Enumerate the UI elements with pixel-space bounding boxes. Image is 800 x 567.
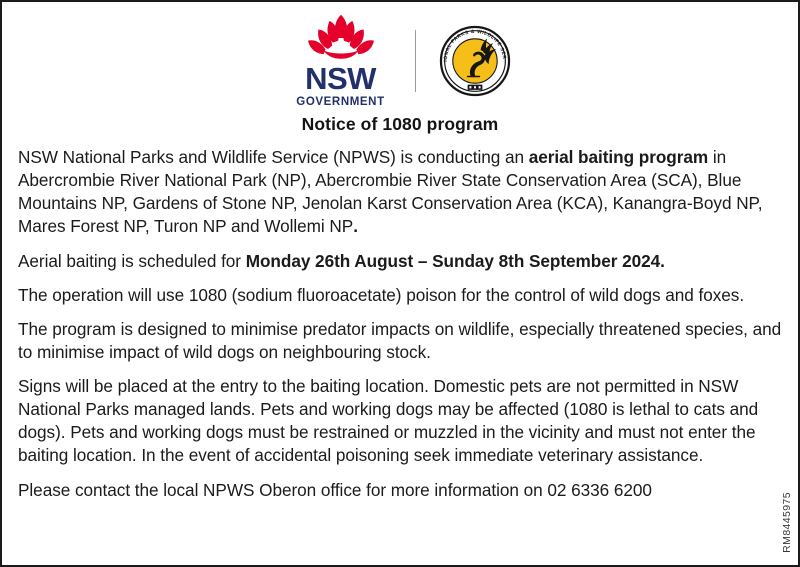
notice-body: NSW National Parks and Wildlife Service … [2,146,798,502]
p1-lead: NSW National Parks and Wildlife Service … [18,147,529,167]
npws-badge-icon: NATIONAL PARKS & WILDLIFE SERVICE [438,24,512,98]
government-wordmark: GOVERNMENT [296,97,384,109]
paragraph-poison-details: The operation will use 1080 (sodium fluo… [18,284,782,307]
p2-lead: Aerial baiting is scheduled for [18,251,246,271]
p2-date-range: Monday 26th August – Sunday 8th Septembe… [246,251,665,271]
logo-divider [415,30,416,92]
page-title: Notice of 1080 program [2,114,798,135]
p1-terminal-period: . [353,216,358,236]
logo-header: NSW GOVERNMENT [2,2,798,114]
nsw-wordmark: NSW [305,63,376,94]
p1-emphasis-aerial-baiting-program: aerial baiting program [529,147,708,167]
paragraph-safety-warning: Signs will be placed at the entry to the… [18,375,782,468]
paragraph-program-areas: NSW National Parks and Wildlife Service … [18,146,782,239]
notice-container: NSW GOVERNMENT [0,0,800,567]
reference-code: RM8445975 [781,492,793,553]
paragraph-schedule: Aerial baiting is scheduled for Monday 2… [18,250,782,273]
nsw-government-logo: NSW GOVERNMENT [289,13,393,109]
paragraph-program-purpose: The program is designed to minimise pred… [18,318,782,364]
paragraph-contact: Please contact the local NPWS Oberon off… [18,479,782,502]
waratah-flower-icon [298,13,384,61]
